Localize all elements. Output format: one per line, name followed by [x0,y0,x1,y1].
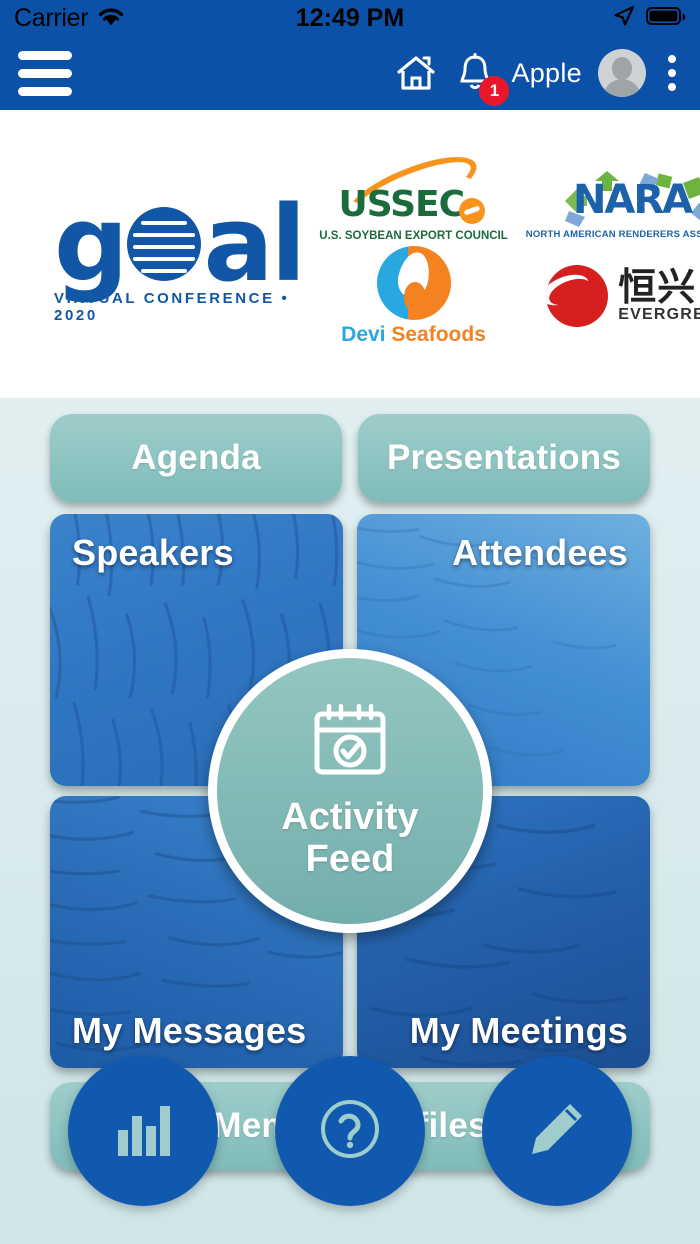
question-mark-icon [318,1097,382,1166]
sponsor-logo-nara: NARA NORTH AMERICAN RENDERERS ASSOCIATIO… [526,168,700,242]
hamburger-menu-icon[interactable] [18,51,72,96]
menu-tile-speakers-label: Speakers [72,532,234,574]
sponsor-logo-ussec: USSEC U.S. SOYBEAN EXPORT COUNCIL [319,168,508,242]
devi-wordmark-part2: Seafoods [391,323,486,346]
carrier-label: Carrier [14,4,88,33]
status-bar-right [612,4,686,33]
menu-tile-my-meetings-label: My Meetings [410,1010,628,1052]
user-name-label[interactable]: Apple [511,58,582,89]
branding-header: g al VIRTUAL CONFERENCE • 2020 USSEC [0,110,700,398]
activity-feed-label-line1: Activity [281,796,418,838]
event-logo-wordmark: g al [54,200,303,288]
top-button-row: Agenda Presentations [50,414,650,502]
menu-tile-attendees-label: Attendees [452,532,628,574]
user-avatar-icon[interactable] [598,49,646,97]
sponsor-logo-devi-seafoods: Devi Seafoods [319,246,508,347]
status-bar-left: Carrier [14,4,126,33]
nara-wordmark: NARA [573,177,691,223]
sponsor-logos: USSEC U.S. SOYBEAN EXPORT COUNCIL [303,168,700,347]
event-logo: g al VIRTUAL CONFERENCE • 2020 [54,200,303,324]
devi-wordmark-part1: Devi [341,323,385,346]
menu-button-activity-feed-label: Activity Feed [281,797,418,879]
app-screen: Carrier 12:49 PM [0,0,700,1244]
globe-icon [127,207,201,281]
navigation-bar: 1 Apple [0,36,700,110]
home-menu-grid: Agenda Presentations [0,398,700,1170]
devi-mark-icon [377,246,451,320]
bar-chart-icon [112,1100,174,1163]
menu-button-presentations[interactable]: Presentations [358,414,650,502]
ussec-mark-icon: USSEC [339,168,489,234]
kebab-menu-icon[interactable] [662,53,682,93]
home-icon[interactable] [393,51,439,95]
notification-badge: 1 [479,76,509,106]
activity-feed-label-line2: Feed [306,838,395,880]
event-logo-al: al [203,200,303,288]
devi-wordmark: Devi Seafoods [341,323,486,347]
navigation-actions: 1 Apple [393,49,682,97]
evergreen-mark-icon [546,265,608,327]
wifi-icon [96,5,126,32]
floating-action-row [0,1056,700,1206]
event-logo-g: g [54,200,125,288]
tile-grid: Speakers Attendees [50,514,650,1068]
fab-help[interactable] [275,1056,425,1206]
status-bar: Carrier 12:49 PM [0,0,700,36]
nara-mark-icon: NARA [559,169,700,231]
menu-button-activity-feed[interactable]: Activity Feed [208,649,492,933]
sponsor-logo-evergreen: 恒兴 EVERGREEN [526,246,700,347]
location-arrow-icon [612,4,636,33]
ussec-wordmark: USSEC [339,184,464,225]
calendar-check-icon [307,702,393,787]
pencil-icon [526,1098,588,1165]
event-logo-tagline: VIRTUAL CONFERENCE • 2020 [54,290,303,324]
evergreen-wordmark-en: EVERGREEN [618,306,700,324]
menu-tile-my-messages-label: My Messages [72,1010,306,1052]
battery-full-icon [646,5,686,32]
fab-polls[interactable] [68,1056,218,1206]
evergreen-wordmark-cn: 恒兴 [618,268,696,306]
fab-notes[interactable] [482,1056,632,1206]
menu-button-agenda[interactable]: Agenda [50,414,342,502]
bell-icon[interactable]: 1 [455,51,495,95]
